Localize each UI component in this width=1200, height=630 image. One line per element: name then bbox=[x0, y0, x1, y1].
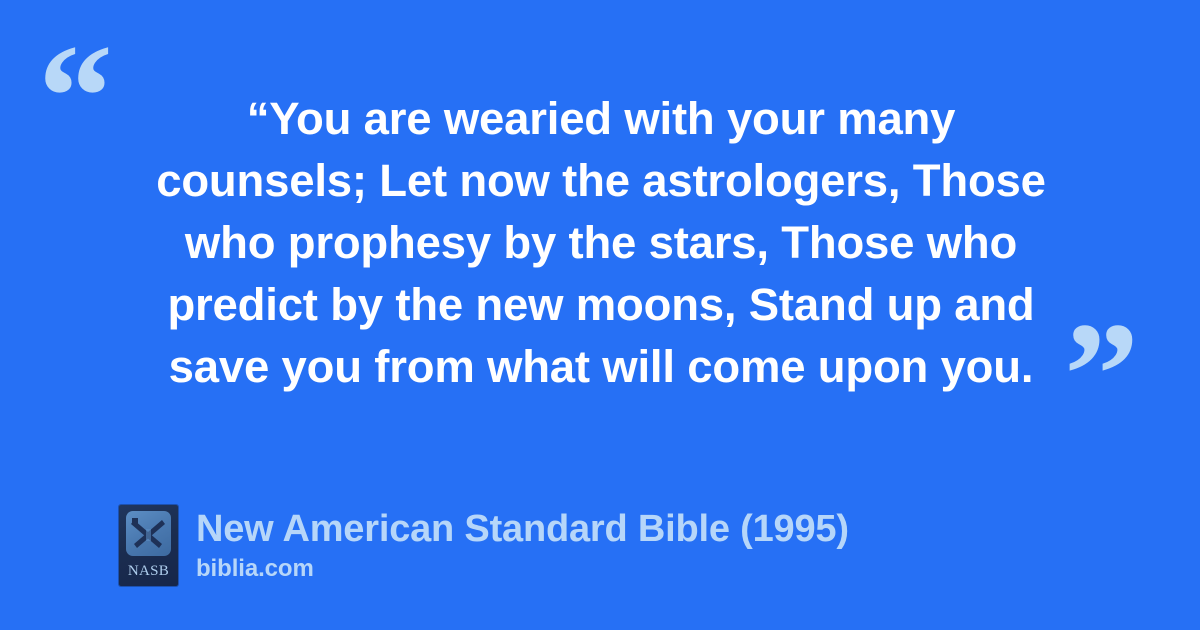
nasb-cross-emblem-icon bbox=[126, 511, 171, 556]
quote-line-5: save you from what will come upon you. bbox=[110, 336, 1092, 398]
quote-line-1: “You are wearied with your many bbox=[110, 88, 1092, 150]
attribution-text: New American Standard Bible (1995) bibli… bbox=[196, 505, 849, 584]
quote-line-4: predict by the new moons, Stand up and bbox=[110, 274, 1092, 336]
quote-line-2: counsels; Let now the astrologers, Those bbox=[110, 150, 1092, 212]
open-quote-icon: “ bbox=[38, 22, 113, 172]
source-website[interactable]: biblia.com bbox=[196, 554, 849, 584]
bible-version-title: New American Standard Bible (1995) bbox=[196, 506, 849, 553]
quote-line-3: who prophesy by the stars, Those who bbox=[110, 212, 1092, 274]
quote-card: { "theme": { "background": "#2670f5", "q… bbox=[0, 0, 1200, 630]
quote-block: “You are wearied with your many counsels… bbox=[110, 88, 1092, 398]
attribution-footer: NASB New American Standard Bible (1995) … bbox=[119, 505, 849, 586]
nasb-wordmark: NASB bbox=[119, 564, 178, 579]
nasb-logo: NASB bbox=[119, 505, 178, 586]
